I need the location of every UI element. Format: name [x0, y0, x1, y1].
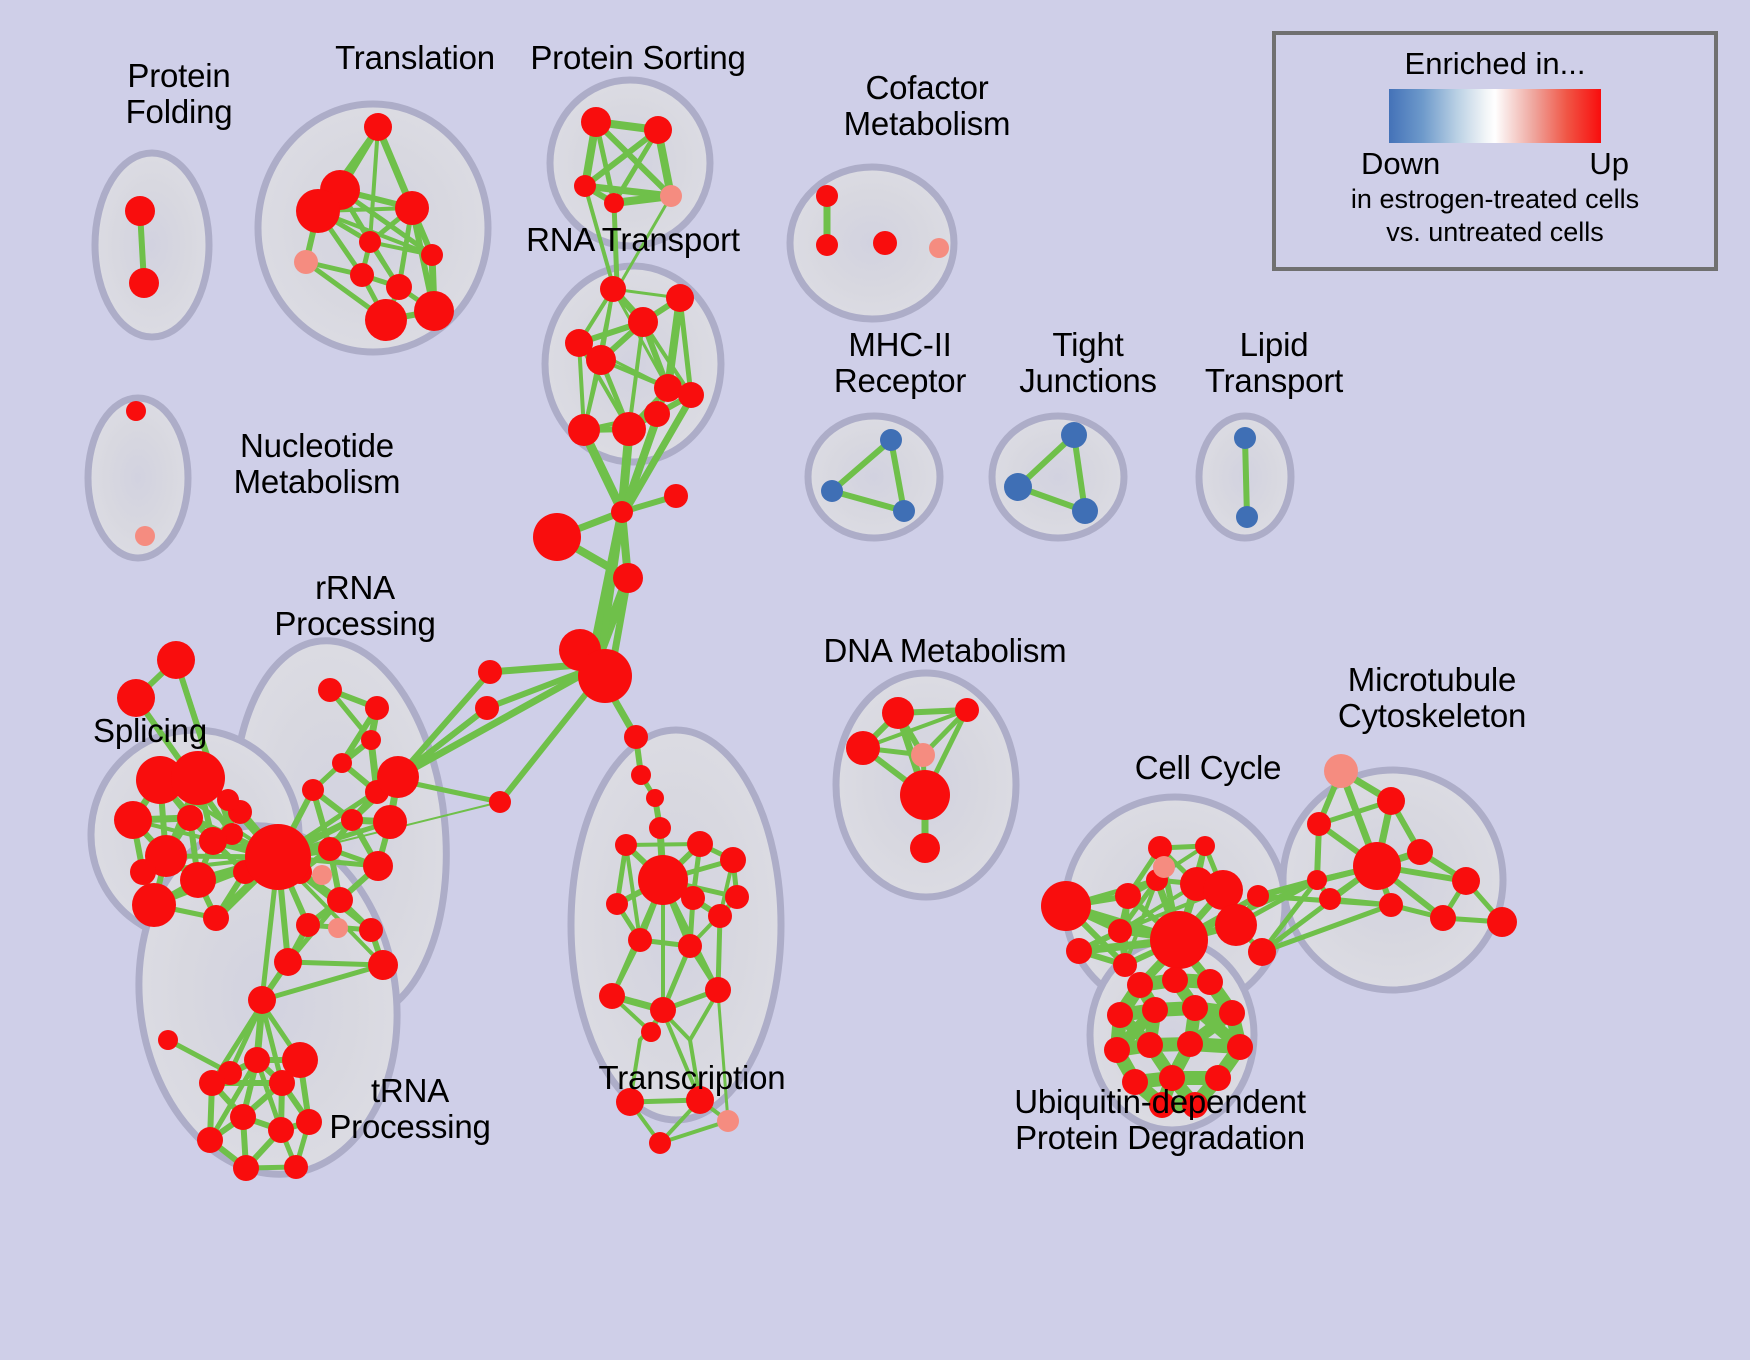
cluster-label-splicing: Splicing: [60, 713, 240, 749]
hull-cofactor: [790, 167, 954, 319]
cluster-label-transcription: Transcription: [567, 1060, 817, 1096]
cluster-label-ubiquitin-protein-degradation: Ubiquitin-dependent Protein Degradation: [1000, 1084, 1320, 1155]
legend-title: Enriched in...: [1405, 46, 1586, 82]
cluster-label-dna-metabolism: DNA Metabolism: [810, 633, 1080, 669]
cluster-label-rrna-processing: rRNA Processing: [250, 570, 460, 641]
hull-mhc: [808, 416, 940, 538]
cluster-label-microtubule-cytoskeleton: Microtubule Cytoskeleton: [1302, 662, 1562, 733]
legend-color-gradient-bar: [1389, 89, 1601, 143]
cluster-label-protein-sorting: Protein Sorting: [508, 40, 768, 76]
legend-caption-line2: vs. untreated cells: [1386, 217, 1604, 248]
cluster-label-nucleotide-metabolism: Nucleotide Metabolism: [197, 428, 437, 499]
hull-protein-folding: [95, 153, 209, 337]
cluster-label-tight-junctions: Tight Junctions: [988, 327, 1188, 398]
cluster-label-lipid-transport: Lipid Transport: [1174, 327, 1374, 398]
legend-scale-endpoints: Down Up: [1361, 146, 1629, 182]
legend-high-label: Up: [1589, 146, 1629, 182]
cluster-label-cell-cycle: Cell Cycle: [1098, 750, 1318, 786]
figure-canvas: .hull { fill:url(#cg); stroke:#adadc8; s…: [0, 0, 1750, 1360]
legend-caption-line1: in estrogen-treated cells: [1351, 184, 1639, 215]
cluster-label-mhc-ii-receptor: MHC-II Receptor: [800, 327, 1000, 398]
cluster-label-rna-transport: RNA Transport: [508, 222, 758, 258]
cluster-label-cofactor-metabolism: Cofactor Metabolism: [812, 70, 1042, 141]
legend-low-label: Down: [1361, 146, 1440, 182]
cluster-label-protein-folding: Protein Folding: [84, 58, 274, 129]
cluster-label-trna-processing: tRNA Processing: [300, 1073, 520, 1144]
cluster-label-translation: Translation: [290, 40, 540, 76]
legend-panel: Enriched in... Down Up in estrogen-treat…: [1272, 31, 1718, 271]
